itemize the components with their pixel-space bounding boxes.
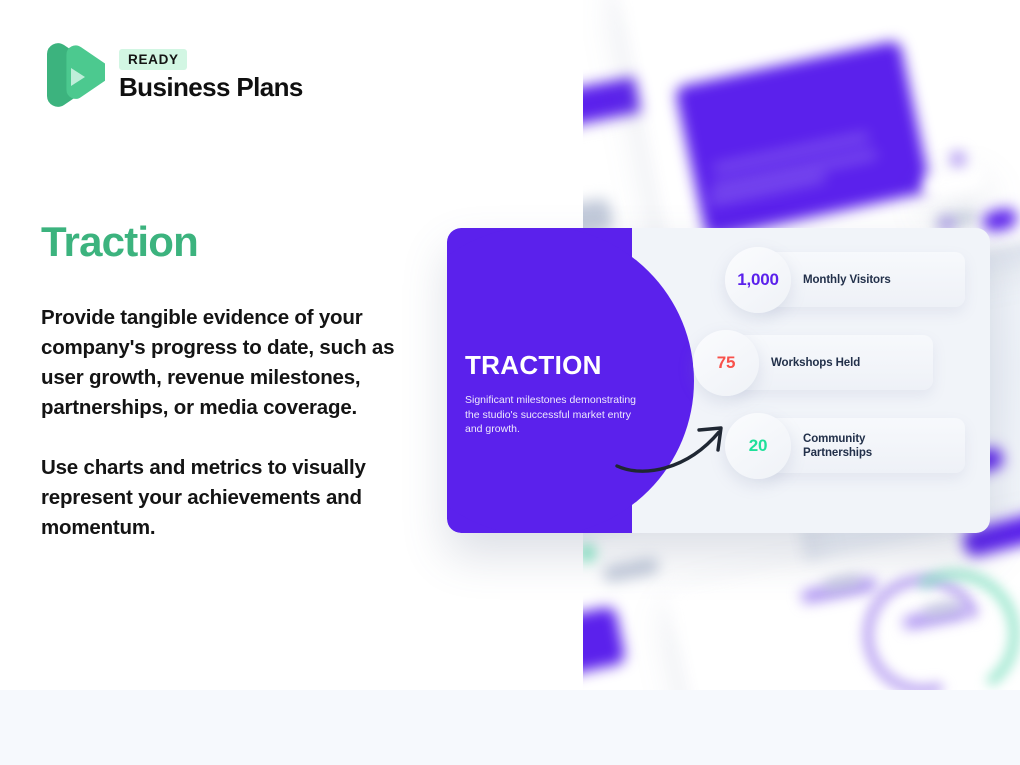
slide-title: TRACTION [465, 350, 665, 381]
metric-bubble: 75 [693, 330, 759, 396]
metric-value: 20 [749, 436, 768, 456]
play-triangle-logo-icon [41, 40, 105, 112]
body-copy: Provide tangible evidence of your compan… [41, 303, 426, 543]
metric-value: 75 [717, 353, 736, 373]
metric-bubble: 20 [725, 413, 791, 479]
page-title: Traction [41, 218, 198, 266]
metric-label: Monthly Visitors [803, 273, 891, 287]
metric-label: Workshops Held [771, 356, 860, 370]
body-paragraph-1: Provide tangible evidence of your compan… [41, 303, 426, 423]
metric-value: 1,000 [737, 270, 779, 290]
metric-bubble: 1,000 [725, 247, 791, 313]
brand-title: Business Plans [119, 72, 303, 103]
ready-badge: READY [119, 49, 187, 70]
slide-preview-page: READY Business Plans Traction Provide ta… [0, 0, 1020, 765]
body-paragraph-2: Use charts and metrics to visually repre… [41, 453, 426, 543]
metric-label: Community Partnerships [803, 432, 872, 460]
metric-row[interactable]: 1,000 Monthly Visitors [725, 250, 891, 310]
slide-subtitle: Significant milestones demonstrating the… [465, 393, 650, 437]
slide-preview-card[interactable]: TRACTION Significant milestones demonstr… [447, 228, 990, 533]
bottom-band [0, 690, 1020, 765]
metrics-list: 1,000 Monthly Visitors 75 Workshops Held… [705, 250, 975, 514]
brand-lockup[interactable]: READY Business Plans [41, 40, 303, 112]
metric-row[interactable]: 75 Workshops Held [693, 333, 860, 393]
slide-heading-block: TRACTION Significant milestones demonstr… [465, 350, 665, 437]
bg-dot-decor [951, 152, 965, 166]
metric-row[interactable]: 20 Community Partnerships [725, 416, 872, 476]
